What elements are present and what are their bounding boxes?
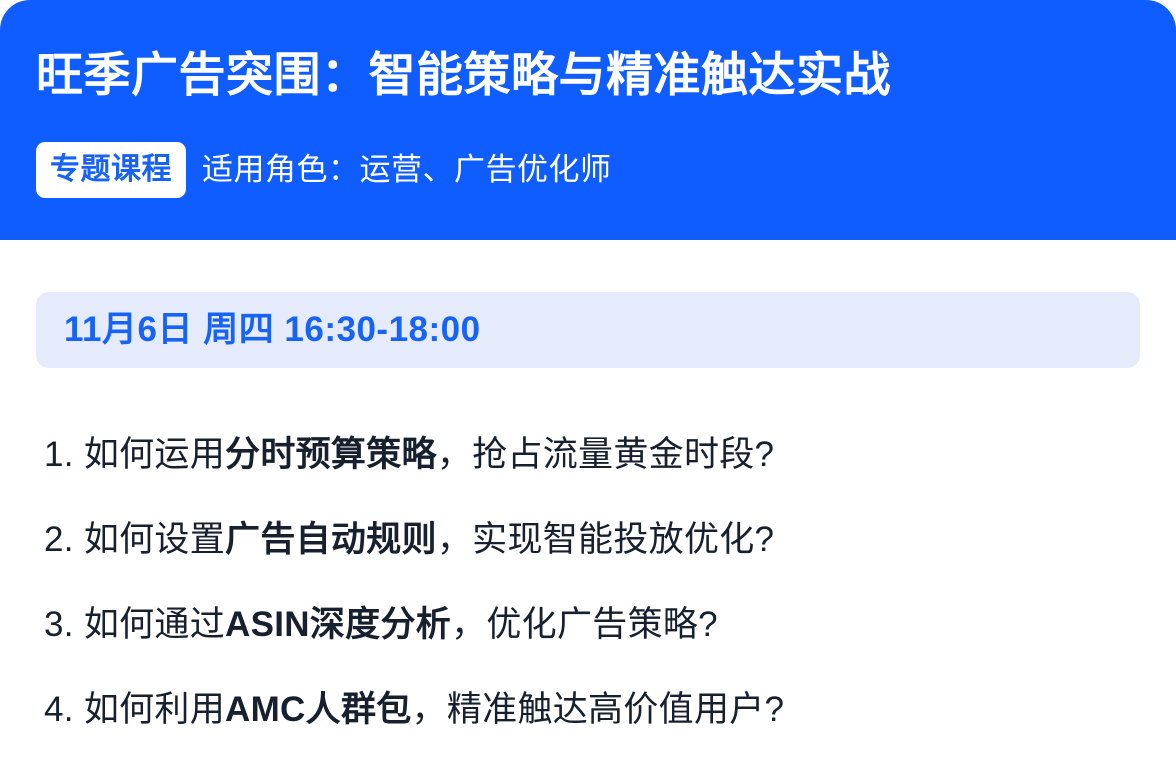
schedule-datetime: 11月6日 周四 16:30-18:00 (64, 308, 481, 352)
header-meta-row: 专题课程 适用角色：运营、广告优化师 (36, 142, 612, 198)
list-item-keyphrase: ASIN深度分析 (225, 605, 451, 644)
list-item: 3. 如何通过ASIN深度分析，优化广告策略? (44, 582, 1134, 667)
list-item-suffix: ，优化广告策略? (451, 605, 718, 644)
agenda-list: 1. 如何运用分时预算策略，抢占流量黄金时段? 2. 如何设置广告自动规则，实现… (44, 412, 1134, 752)
list-item-prefix: 如何利用 (74, 690, 225, 729)
list-item-number: 2. (44, 520, 74, 559)
list-item-prefix: 如何通过 (74, 605, 225, 644)
list-item-prefix: 如何设置 (74, 520, 225, 559)
list-item: 2. 如何设置广告自动规则，实现智能投放优化? (44, 497, 1134, 582)
list-item-number: 1. (44, 435, 74, 474)
list-item-prefix: 如何运用 (74, 435, 225, 474)
list-item-suffix: ，精准触达高价值用户? (412, 690, 785, 729)
list-item-number: 3. (44, 605, 74, 644)
card-header: 旺季广告突围：智能策略与精准触达实战 专题课程 适用角色：运营、广告优化师 (0, 0, 1176, 240)
list-item: 1. 如何运用分时预算策略，抢占流量黄金时段? (44, 412, 1134, 497)
page-title: 旺季广告突围：智能策略与精准触达实战 (36, 44, 891, 106)
schedule-banner: 11月6日 周四 16:30-18:00 (36, 292, 1140, 368)
course-promo-card: 旺季广告突围：智能策略与精准触达实战 专题课程 适用角色：运营、广告优化师 11… (0, 0, 1176, 780)
list-item-keyphrase: 广告自动规则 (225, 520, 437, 559)
list-item: 4. 如何利用AMC人群包，精准触达高价值用户? (44, 667, 1134, 752)
target-role-label: 适用角色：运营、广告优化师 (202, 150, 612, 190)
list-item-suffix: ，实现智能投放优化? (437, 520, 774, 559)
list-item-suffix: ，抢占流量黄金时段? (437, 435, 774, 474)
status-badge: 专题课程 (36, 142, 186, 198)
list-item-keyphrase: 分时预算策略 (225, 435, 437, 474)
list-item-keyphrase: AMC人群包 (225, 690, 412, 729)
list-item-number: 4. (44, 690, 74, 729)
